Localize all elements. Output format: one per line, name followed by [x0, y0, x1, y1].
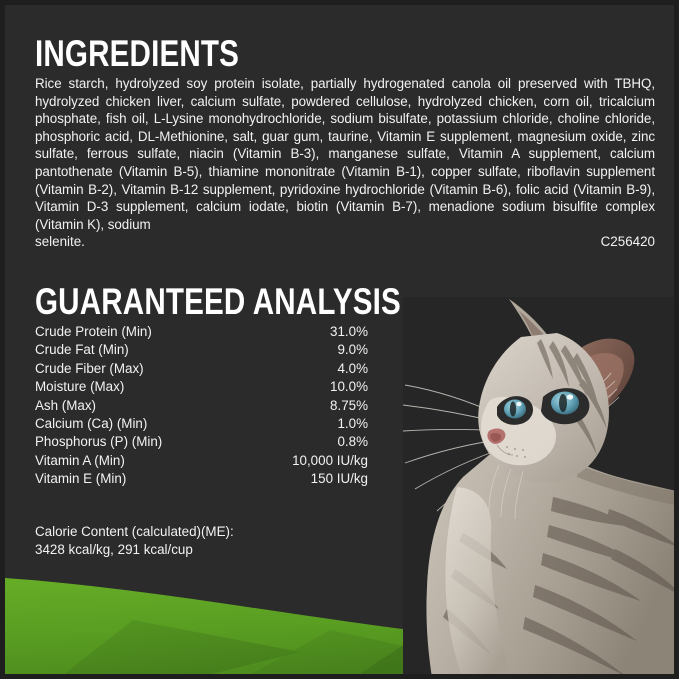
nutrient-name: Ash (Max): [35, 397, 244, 415]
guaranteed-analysis-rows: Crude Protein (Min)31.0%Crude Fat (Min)9…: [35, 323, 368, 489]
ingredients-section: INGREDIENTS: [35, 35, 655, 73]
table-row: Crude Fat (Min)9.0%: [35, 341, 368, 359]
nutrient-name: Calcium (Ca) (Min): [35, 415, 244, 433]
calorie-content-section: Calorie Content (calculated)(ME): 3428 k…: [35, 523, 375, 558]
table-row: Crude Protein (Min)31.0%: [35, 323, 368, 341]
calorie-content-value: 3428 kcal/kg, 291 kcal/cup: [35, 541, 375, 559]
nutrient-value: 9.0%: [244, 341, 368, 359]
nutrient-value: 10,000 IU/kg: [244, 452, 368, 470]
table-row: Phosphorus (P) (Min)0.8%: [35, 433, 368, 451]
nutrient-value: 150 IU/kg: [244, 470, 368, 488]
guaranteed-analysis-section: Crude Protein (Min)31.0%Crude Fat (Min)9…: [35, 323, 368, 489]
nutrient-name: Crude Protein (Min): [35, 323, 244, 341]
nutrient-name: Crude Fat (Min): [35, 341, 244, 359]
ingredients-tail-row: selenite. C256420: [35, 233, 655, 251]
nutrient-value: 10.0%: [244, 378, 368, 396]
ingredients-body-wrap: Rice starch, hydrolyzed soy protein isol…: [35, 75, 655, 251]
guaranteed-analysis-table: Crude Protein (Min)31.0%Crude Fat (Min)9…: [35, 323, 368, 489]
nutrient-value: 31.0%: [244, 323, 368, 341]
table-row: Moisture (Max)10.0%: [35, 378, 368, 396]
footer-green-graphic: [5, 564, 674, 674]
table-row: Vitamin E (Min)150 IU/kg: [35, 470, 368, 488]
ingredients-text: Rice starch, hydrolyzed soy protein isol…: [35, 75, 655, 233]
table-row: Calcium (Ca) (Min)1.0%: [35, 415, 368, 433]
nutrient-name: Phosphorus (P) (Min): [35, 433, 244, 451]
pet-food-label: INGREDIENTS Rice starch, hydrolyzed soy …: [0, 0, 679, 679]
ingredients-last-word: selenite.: [35, 233, 85, 251]
cat-photo: [403, 297, 674, 674]
table-row: Vitamin A (Min)10,000 IU/kg: [35, 452, 368, 470]
label-stage: INGREDIENTS Rice starch, hydrolyzed soy …: [5, 5, 674, 674]
calorie-content-label: Calorie Content (calculated)(ME):: [35, 523, 375, 541]
product-code: C256420: [601, 233, 655, 251]
nutrient-value: 1.0%: [244, 415, 368, 433]
nutrient-value: 8.75%: [244, 397, 368, 415]
guaranteed-analysis-heading: GUARANTEED ANALYSIS: [35, 283, 301, 321]
nutrient-name: Crude Fiber (Max): [35, 360, 244, 378]
table-row: Crude Fiber (Max)4.0%: [35, 360, 368, 378]
table-row: Ash (Max)8.75%: [35, 397, 368, 415]
nutrient-name: Vitamin A (Min): [35, 452, 244, 470]
nutrient-name: Moisture (Max): [35, 378, 244, 396]
nutrient-name: Vitamin E (Min): [35, 470, 244, 488]
nutrient-value: 4.0%: [244, 360, 368, 378]
guaranteed-analysis-heading-wrap: GUARANTEED ANALYSIS: [35, 283, 368, 321]
nutrient-value: 0.8%: [244, 433, 368, 451]
ingredients-heading: INGREDIENTS: [35, 35, 531, 73]
